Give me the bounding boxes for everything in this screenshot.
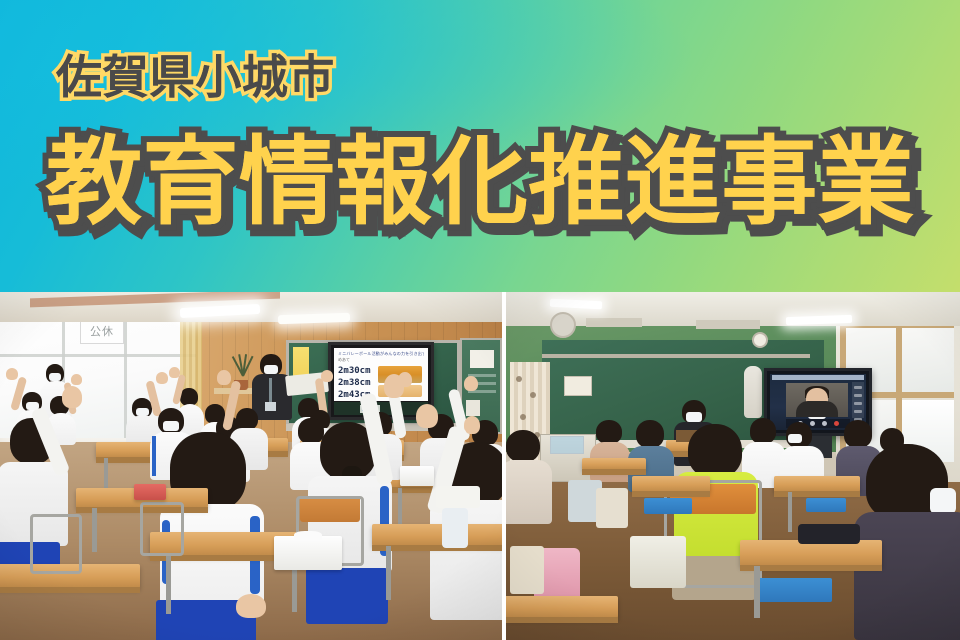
- face-mask-icon: [686, 412, 702, 422]
- whiteboard-subline: めあて: [338, 357, 350, 363]
- wall-poster-icon: [564, 376, 592, 396]
- hand-icon: [169, 367, 180, 378]
- shorts-icon: [306, 568, 388, 624]
- blackboard-rail-icon: [542, 354, 810, 358]
- display-screen: ミニバレーボール活動がみんなの力を引き出すか? めあて 2m30cm 2m38c…: [334, 348, 428, 401]
- measure-line: 2m30cm: [338, 365, 371, 377]
- whiteboard-heading: ミニバレーボール活動がみんなの力を引き出すか?: [338, 351, 424, 356]
- desk-leg-icon: [386, 546, 391, 600]
- head-icon: [236, 408, 258, 430]
- face-mask-icon: [163, 421, 179, 431]
- ceiling-duct-icon: [586, 318, 642, 327]
- head-icon: [750, 418, 776, 444]
- tissue-box-icon: [274, 536, 342, 570]
- photo-strip: 公休 ミニバレーボール活動がみんなの力を引き出すか?: [0, 292, 960, 640]
- tissue-box-icon: [400, 466, 434, 486]
- hand-icon: [384, 374, 404, 398]
- tote-bag-icon: [510, 546, 544, 594]
- head-icon: [688, 424, 742, 478]
- head-icon: [506, 430, 540, 462]
- shoulders-icon: [796, 401, 838, 417]
- cloth-icon: [436, 486, 480, 508]
- desk-tray-icon: [806, 498, 846, 512]
- hand-icon: [62, 386, 82, 408]
- desk-tray-icon: [644, 498, 692, 514]
- id-card-icon: [265, 402, 276, 411]
- lanyard-icon: [269, 378, 272, 404]
- hand-icon: [156, 372, 168, 384]
- storage-bin-icon: [550, 436, 584, 454]
- uniform-stripe-icon: [152, 436, 156, 476]
- hand-icon: [464, 376, 478, 391]
- hand-icon: [71, 374, 82, 385]
- banner-text-block: 佐賀県小城市 佐賀県小城市 教育情報化推進事業 教育情報化推進事業 教育情報化推…: [0, 0, 960, 292]
- banner-subtitle: 佐賀県小城市: [56, 54, 335, 100]
- display-toolbar-icon: [772, 375, 864, 380]
- cabinet-paper-icon: [470, 350, 494, 368]
- desk-icon: [506, 596, 618, 618]
- desk-leg-icon: [398, 488, 402, 526]
- desk-leg-icon: [92, 508, 97, 552]
- desk-leg-icon: [788, 492, 792, 532]
- desk-leg-icon: [754, 566, 760, 618]
- hand-icon: [236, 594, 266, 618]
- hand-icon: [217, 370, 231, 385]
- door-glass-icon: [902, 328, 954, 394]
- head-icon: [596, 420, 622, 444]
- cabinet-label-icon: [466, 400, 480, 416]
- face-mask-icon: [264, 365, 278, 374]
- head-icon: [298, 418, 324, 444]
- header-banner: 佐賀県小城市 佐賀県小城市 教育情報化推進事業 教育情報化推進事業 教育情報化推…: [0, 0, 960, 292]
- body-icon: [854, 512, 960, 640]
- desk-icon: [372, 524, 502, 546]
- face-mask-icon: [49, 373, 61, 381]
- hand-icon: [321, 370, 333, 382]
- chair-icon: [30, 514, 82, 574]
- body-icon: [506, 460, 552, 524]
- chair-icon: [140, 502, 184, 556]
- pencil-case-icon: [798, 524, 860, 544]
- bag-icon: [442, 508, 468, 548]
- face-mask-icon: [930, 488, 956, 514]
- ceiling-duct-icon: [696, 320, 760, 329]
- right-photo-scene: [506, 292, 960, 640]
- face-mask-icon: [136, 408, 149, 416]
- photo-classroom-online-lesson: [506, 292, 960, 640]
- photo-classroom-hands-raised: 公休 ミニバレーボール活動がみんなの力を引き出すか?: [0, 292, 502, 640]
- desk-leg-icon: [166, 556, 171, 614]
- pencil-case-icon: [134, 484, 166, 500]
- left-photo-scene: 公休 ミニバレーボール活動がみんなの力を引き出すか?: [0, 292, 502, 640]
- wall-clock-icon: [752, 332, 768, 348]
- window-sign-icon: 公休: [80, 320, 124, 344]
- desk-icon: [774, 476, 860, 492]
- desk-icon: [632, 476, 710, 492]
- desk-tray-icon: [756, 578, 832, 602]
- banner-page: 佐賀県小城市 佐賀県小城市 教育情報化推進事業 教育情報化推進事業 教育情報化推…: [0, 0, 960, 640]
- measure-line: 2m38cm: [338, 377, 371, 389]
- head-icon: [636, 420, 664, 448]
- ceiling-fan-icon: [550, 312, 576, 338]
- tote-bag-icon: [596, 488, 628, 528]
- head-icon: [844, 420, 872, 448]
- hand-icon: [416, 404, 438, 428]
- desk-icon: [582, 458, 646, 470]
- display-sidebar-icon: [852, 382, 864, 418]
- window-mullion-icon: [0, 354, 196, 357]
- banner-title: 教育情報化推進事業: [46, 134, 914, 230]
- hanging-cloth-icon: [744, 366, 762, 418]
- hand-icon: [6, 368, 18, 380]
- face-mask-icon: [788, 434, 802, 443]
- tote-bag-icon: [630, 536, 686, 588]
- video-call-tile: [786, 383, 848, 417]
